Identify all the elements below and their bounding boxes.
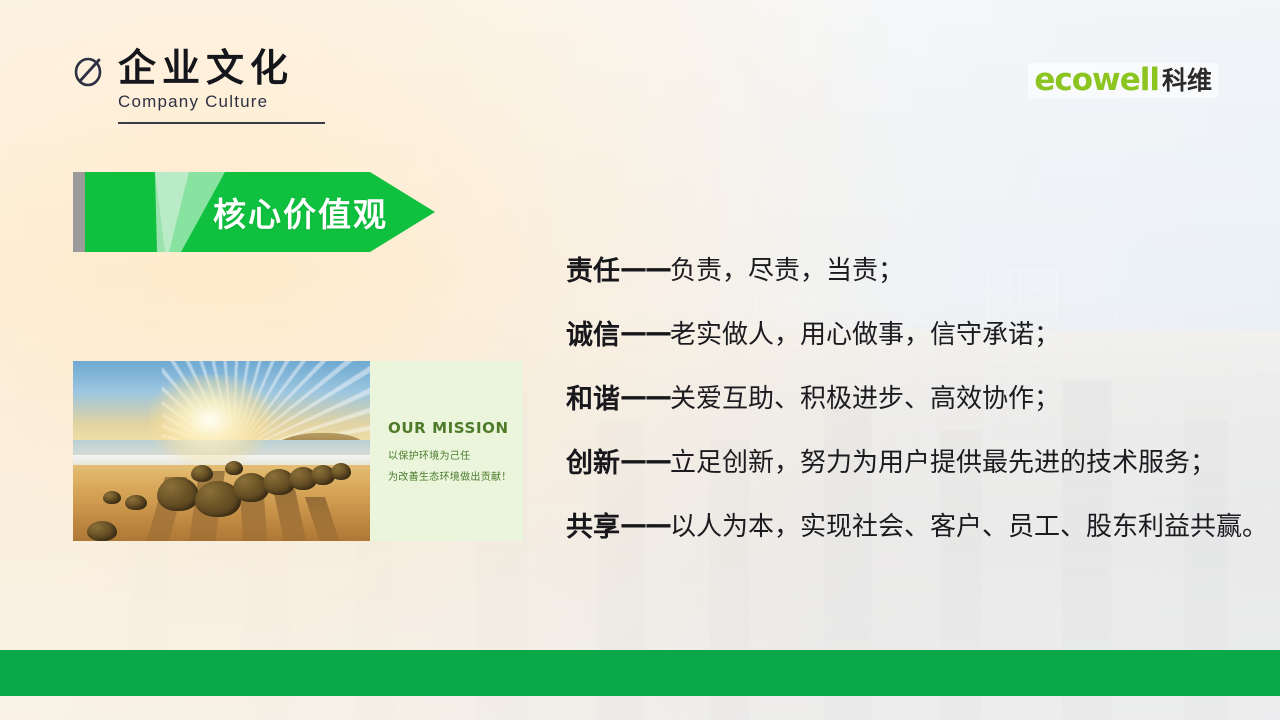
value-dash: ——	[620, 509, 670, 540]
slide-company-culture: 企业文化 Company Culture ecowell 科维 核心价值观	[0, 0, 1280, 720]
section-banner: 核心价值观	[73, 172, 435, 252]
core-values-list: 责任 —— 负责，尽责，当责； 诚信 —— 老实做人，用心做事，信守承诺； 和谐…	[566, 236, 1266, 556]
mission-line-1: 以保护环境为己任	[388, 447, 523, 466]
value-key: 和谐	[566, 377, 620, 416]
banner-left-bar	[73, 172, 85, 252]
company-logo: ecowell 科维	[1028, 63, 1218, 98]
value-item-innovation: 创新 —— 立足创新，努力为用户提供最先进的技术服务；	[566, 428, 1266, 492]
section-banner-label: 核心价值观	[213, 172, 388, 252]
value-key: 创新	[566, 441, 620, 480]
value-item-harmony: 和谐 —— 关爱互助、积极进步、高效协作；	[566, 364, 1266, 428]
value-item-responsibility: 责任 —— 负责，尽责，当责；	[566, 236, 1266, 300]
mission-title: OUR MISSION	[388, 419, 523, 437]
mission-card: OUR MISSION 以保护环境为己任 为改善生态环境做出贡献！	[73, 361, 523, 541]
value-key: 责任	[566, 249, 620, 288]
logo-wordmark: ecowell	[1034, 65, 1159, 96]
title-underline	[118, 122, 325, 124]
value-dash: ——	[620, 253, 670, 284]
value-item-sharing: 共享 —— 以人为本，实现社会、客户、员工、股东利益共赢。	[566, 492, 1266, 556]
value-text: 老实做人，用心做事，信守承诺；	[670, 314, 1060, 351]
value-text: 立足创新，努力为用户提供最先进的技术服务；	[670, 442, 1216, 479]
value-key: 共享	[566, 505, 620, 544]
mission-line-2: 为改善生态环境做出贡献！	[388, 468, 523, 487]
value-text: 负责，尽责，当责；	[670, 250, 904, 287]
logo-chinese-name: 科维	[1162, 68, 1212, 93]
value-text: 以人为本，实现社会、客户、员工、股东利益共赢。	[670, 506, 1268, 543]
mission-photo	[73, 361, 370, 541]
footer-bar	[0, 650, 1280, 696]
value-dash: ——	[620, 317, 670, 348]
page-subtitle: Company Culture	[118, 92, 472, 112]
value-key: 诚信	[566, 313, 620, 352]
value-item-integrity: 诚信 —— 老实做人，用心做事，信守承诺；	[566, 300, 1266, 364]
page-title: 企业文化	[118, 48, 294, 88]
title-row: 企业文化	[72, 48, 472, 88]
value-text: 关爱互助、积极进步、高效协作；	[670, 378, 1060, 415]
value-dash: ——	[620, 445, 670, 476]
slash-circle-icon	[72, 54, 106, 88]
page-header: 企业文化 Company Culture	[72, 48, 472, 124]
value-dash: ——	[620, 381, 670, 412]
mission-text-panel: OUR MISSION 以保护环境为己任 为改善生态环境做出贡献！	[370, 361, 523, 541]
